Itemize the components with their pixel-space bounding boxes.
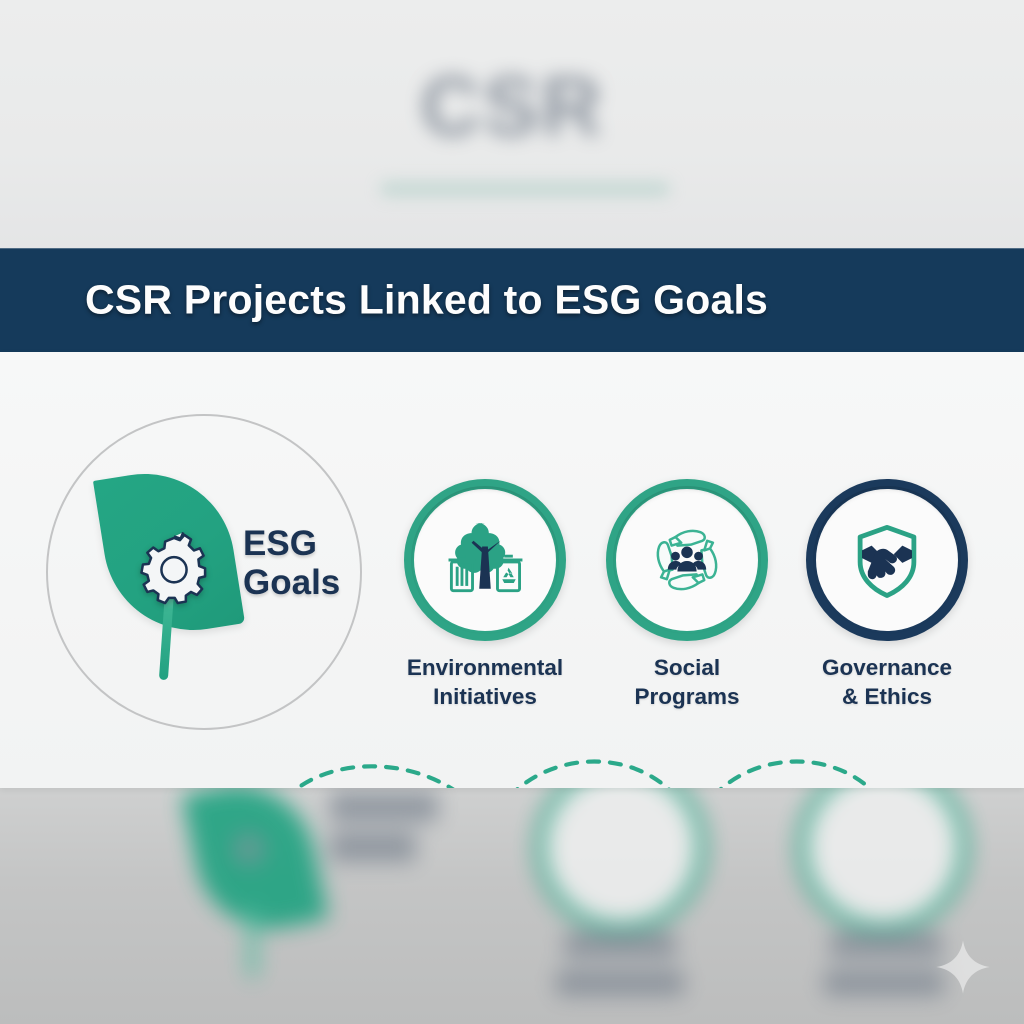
node-label-line1: Social (572, 654, 802, 683)
background-blurred-diagram (0, 788, 1024, 1024)
handshake-shield-icon (839, 512, 935, 608)
node-environmental-initiatives[interactable] (404, 479, 566, 641)
esg-goals-label-line2: Goals (243, 563, 340, 602)
infographic-canvas: CSR CSR Projects Linked to ESG Goals (0, 0, 1024, 1024)
background-label-a (330, 792, 438, 822)
background-label-b (330, 832, 416, 862)
node-label-governance: Governance & Ethics (772, 654, 1002, 712)
node-label-line2: Initiatives (370, 683, 600, 712)
esg-goals-label: ESG Goals (243, 524, 340, 602)
node-social-programs[interactable] (606, 479, 768, 641)
node-governance-ethics[interactable] (806, 479, 968, 641)
background-watermark-title: CSR (0, 58, 1024, 155)
gear-icon (137, 532, 211, 606)
hands-around-people-icon (639, 512, 735, 608)
page-title: CSR Projects Linked to ESG Goals (85, 277, 768, 324)
tree-recycling-bins-icon (437, 512, 533, 608)
background-label-f (824, 970, 944, 996)
background-label-e (830, 932, 942, 958)
node-label-line1: Environmental (370, 654, 600, 683)
background-watermark-rule (380, 182, 670, 196)
esg-goals-label-line1: ESG (243, 524, 340, 563)
node-label-line2: & Ethics (772, 683, 1002, 712)
node-label-line1: Governance (772, 654, 1002, 683)
node-label-social: Social Programs (572, 654, 802, 712)
background-leaf-stem (248, 906, 257, 978)
sparkle-star-icon (934, 938, 992, 996)
dashed-arc-1 (273, 766, 482, 788)
background-gear-icon (232, 832, 266, 866)
dashed-arc-3 (700, 762, 890, 789)
background-label-c (564, 932, 676, 958)
background-label-d (556, 970, 684, 996)
node-label-line2: Programs (572, 683, 802, 712)
node-label-environmental: Environmental Initiatives (370, 654, 600, 712)
title-banner: CSR Projects Linked to ESG Goals (0, 248, 1024, 352)
dashed-arc-2 (496, 762, 688, 789)
